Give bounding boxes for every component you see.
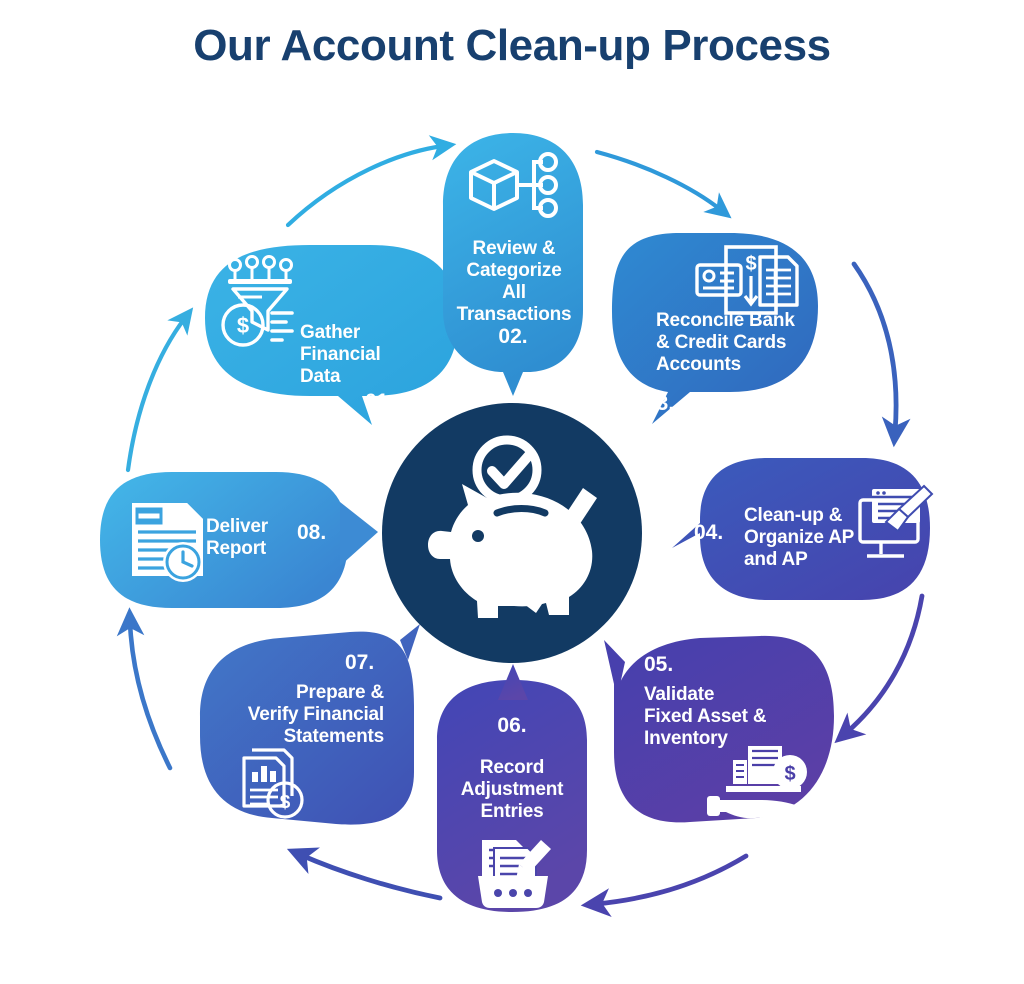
bubble-icons-layer: $ $	[0, 0, 1024, 984]
step-03-label: Reconcile Bank & Credit Cards Accounts	[656, 310, 831, 376]
step-05-number: 05.	[644, 653, 673, 677]
step-04-label: Clean-up & Organize AP and AP	[744, 505, 894, 571]
categorize-node-box-icon	[471, 154, 556, 216]
document-clock-icon	[132, 503, 203, 582]
hand-building-coin-icon: $	[707, 746, 807, 818]
svg-text:$: $	[784, 763, 795, 785]
step-01-number: 01.	[365, 390, 394, 414]
svg-text:$: $	[745, 253, 756, 275]
report-chart-dollar-icon: $	[244, 750, 302, 817]
step-08-number: 08.	[297, 521, 326, 545]
svg-text:$: $	[280, 792, 291, 813]
document-pen-basket-icon	[478, 840, 551, 908]
step-02-number: 02.	[0, 325, 1024, 349]
step-07-label: Prepare & Verify Financial Statements	[224, 682, 384, 748]
step-02-label: Review & Categorize All Transactions	[443, 238, 585, 326]
step-06-number: 06.	[437, 714, 587, 738]
step-04-number: 04.	[694, 521, 723, 545]
step-07-number: 07.	[345, 651, 374, 675]
step-06-label: Record Adjustment Entries	[437, 757, 587, 823]
step-05-label: Validate Fixed Asset & Inventory	[644, 684, 804, 750]
step-03-number: 03.	[645, 392, 674, 416]
bank-card-document-icon: $	[697, 247, 797, 313]
infographic-canvas: Our Account Clean-up Process	[0, 0, 1024, 984]
